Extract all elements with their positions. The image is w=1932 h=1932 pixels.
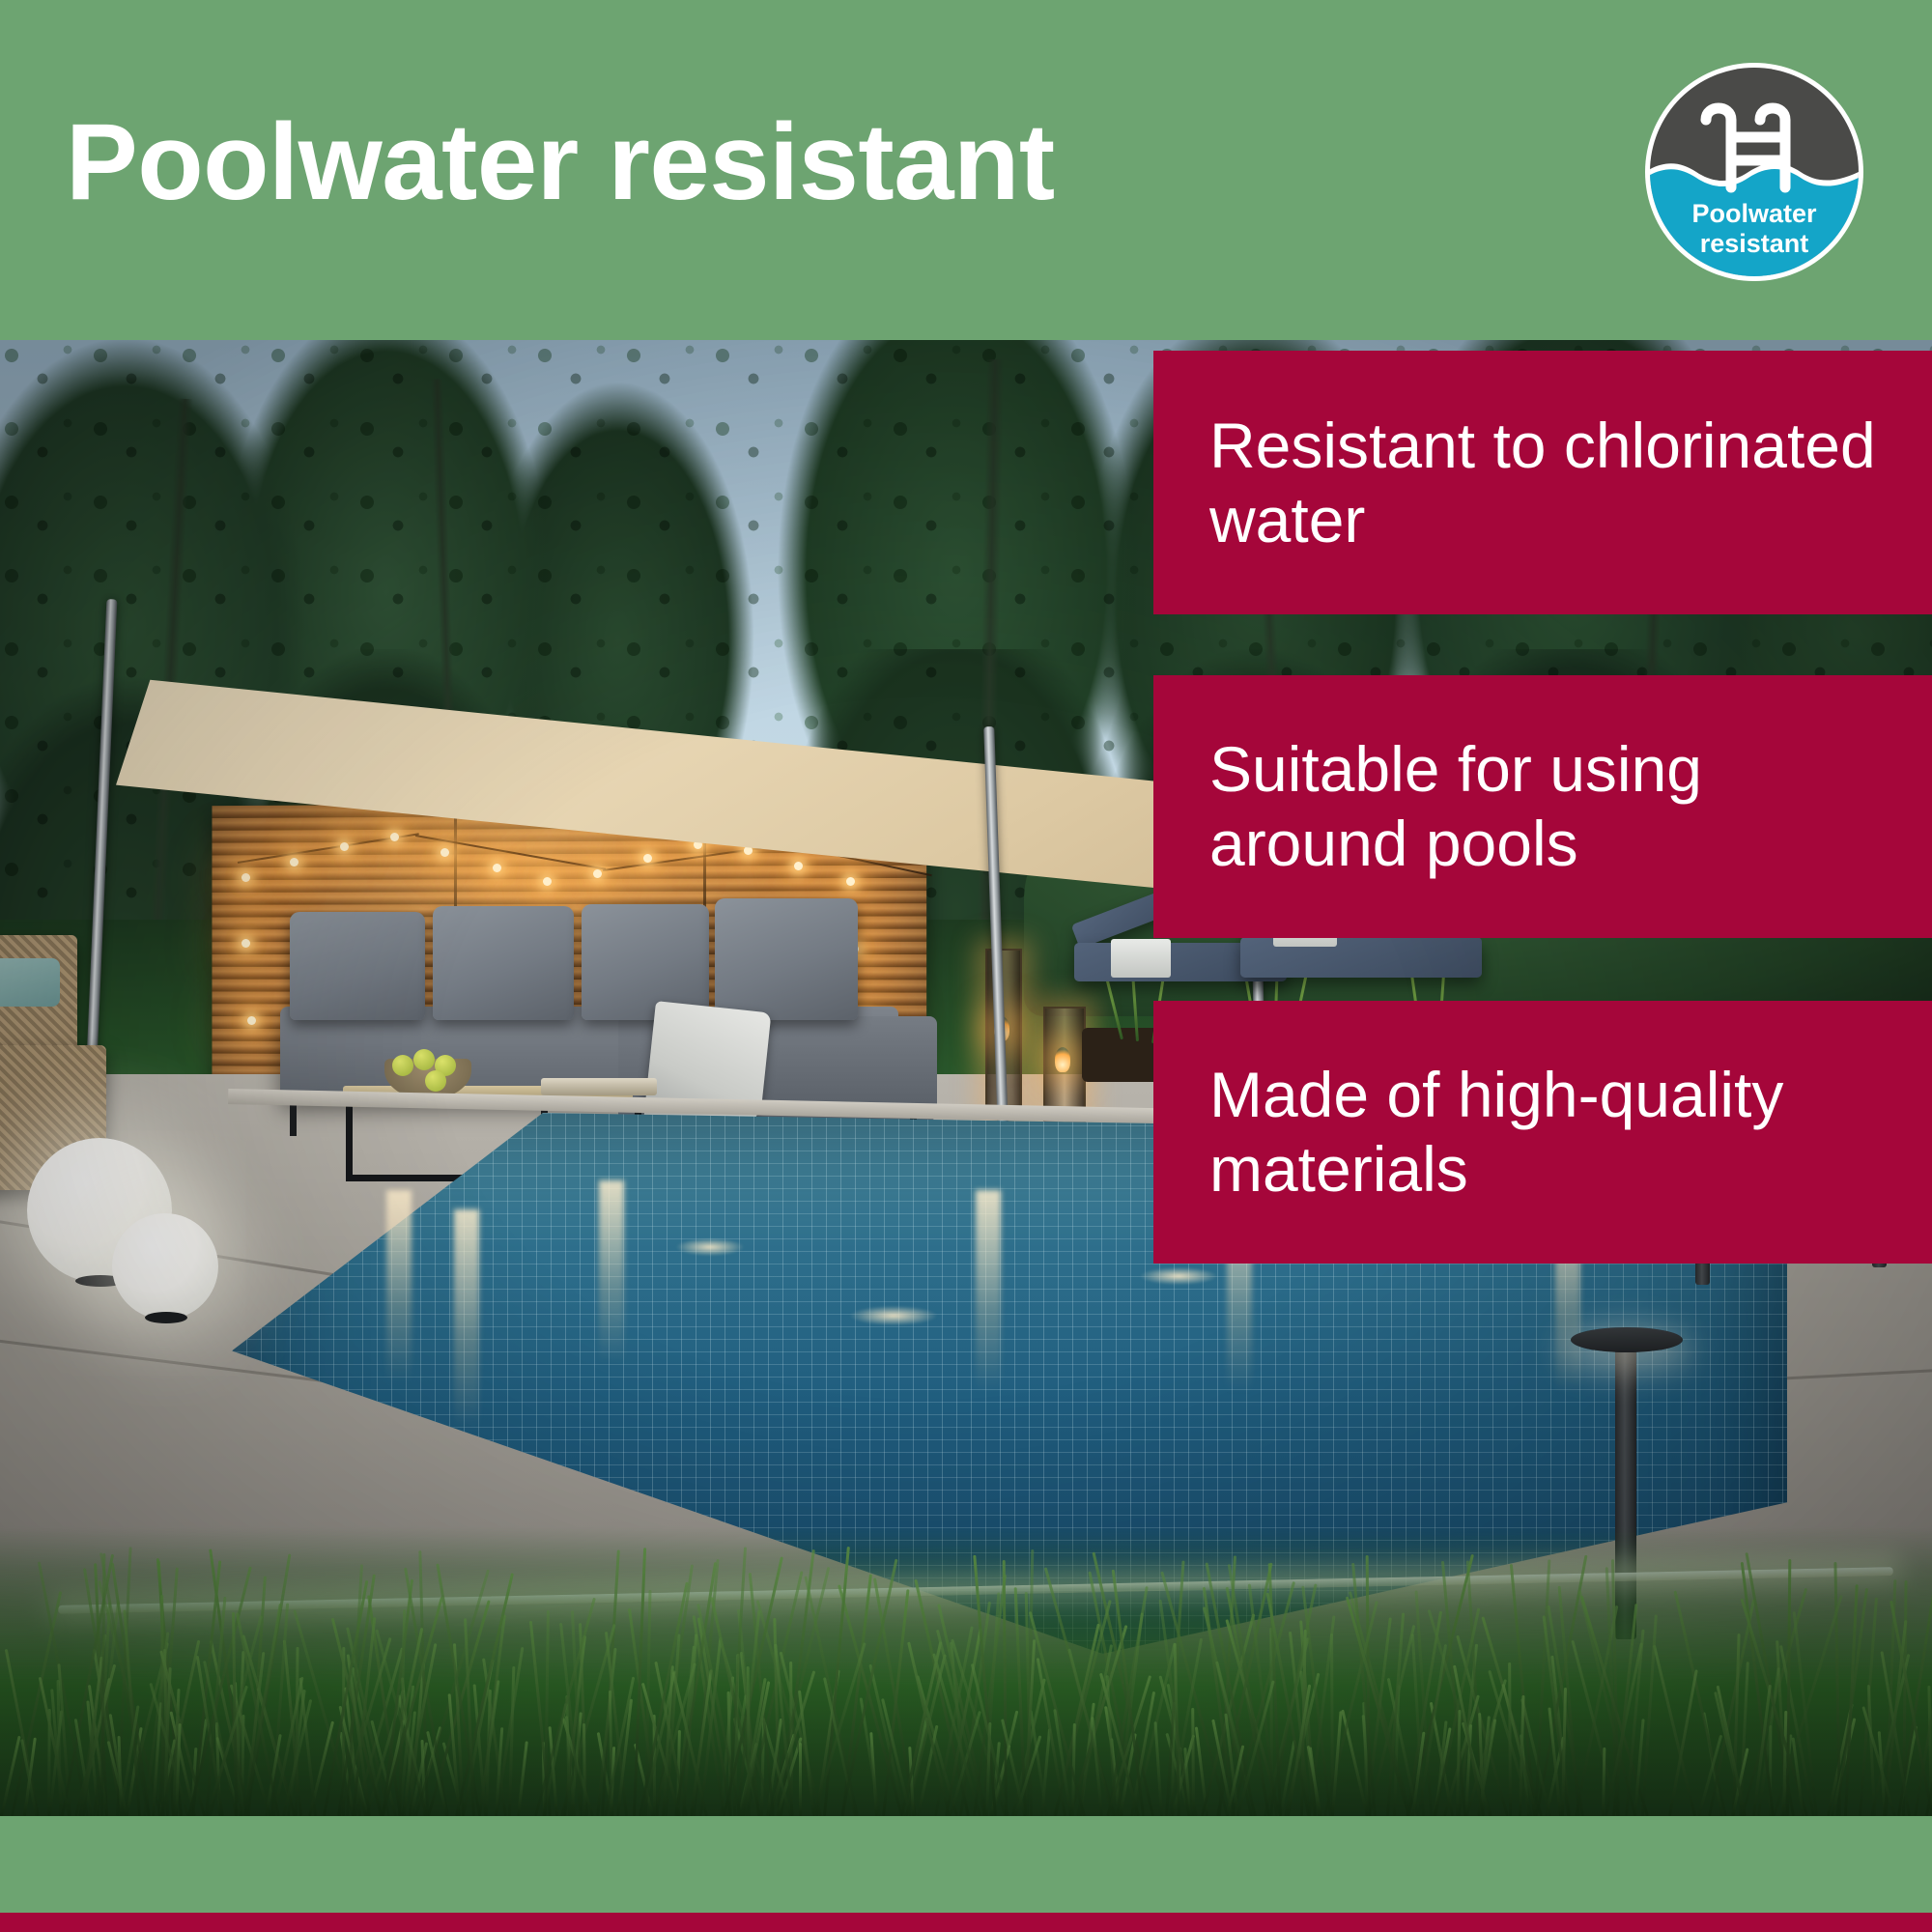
string-light-bulb — [493, 864, 501, 872]
wicker-sofa-cushion — [0, 958, 60, 1007]
feature-callout-text: Made of high-quality materials — [1209, 1058, 1878, 1206]
sphere-lamp-small — [112, 1213, 218, 1320]
feature-callout-text: Suitable for using around pools — [1209, 732, 1878, 880]
fruit-pear — [425, 1070, 446, 1092]
poster-root: Poolwater resistant — [0, 0, 1932, 1932]
sofa-back-cushion — [290, 912, 425, 1020]
string-light-bulb — [241, 939, 250, 948]
string-light-bulb — [390, 833, 399, 841]
feature-callout-list: Resistant to chlorinated water Suitable … — [1153, 340, 1932, 1264]
string-light-bulb — [846, 877, 855, 886]
water-shimmer — [676, 1238, 744, 1256]
poolwater-resistant-badge: Poolwater resistant — [1642, 60, 1866, 284]
water-shimmer — [1140, 1267, 1217, 1285]
side-table — [541, 1078, 657, 1095]
string-light-bulb — [340, 842, 349, 851]
sofa-back-cushion — [582, 904, 709, 1020]
water-shimmer — [850, 1306, 937, 1325]
string-light-bulb — [643, 854, 652, 863]
feature-callout: Suitable for using around pools — [1153, 675, 1932, 938]
grass-blade — [160, 1595, 164, 1816]
bollard-light-head — [1571, 1327, 1683, 1352]
string-light-bulb — [543, 877, 552, 886]
fruit-pear — [413, 1049, 435, 1070]
badge-line-2: resistant — [1700, 229, 1809, 258]
sphere-lamp-base — [145, 1312, 187, 1323]
water-reflection — [599, 1180, 624, 1364]
water-reflection — [454, 1209, 479, 1432]
page-title: Poolwater resistant — [66, 108, 1055, 216]
footer-red-bar — [0, 1913, 1932, 1932]
string-light-bulb — [593, 869, 602, 878]
water-reflection — [976, 1190, 1001, 1393]
grass-blade — [799, 1743, 802, 1816]
string-light-bulb — [794, 862, 803, 870]
sofa-back-cushion — [715, 898, 858, 1020]
string-light-bulb — [241, 873, 250, 882]
fruit-pear — [392, 1055, 413, 1076]
lantern-flame — [1055, 1047, 1070, 1072]
string-light-bulb — [440, 848, 449, 857]
feature-callout: Resistant to chlorinated water — [1153, 351, 1932, 614]
badge-line-1: Poolwater — [1691, 199, 1817, 228]
grass-blade — [1191, 1708, 1195, 1816]
footer-green-bar — [0, 1816, 1932, 1913]
header-bar: Poolwater resistant — [0, 0, 1932, 340]
feature-callout: Made of high-quality materials — [1153, 1001, 1932, 1264]
string-light-bulb — [290, 858, 298, 867]
feature-callout-text: Resistant to chlorinated water — [1209, 409, 1878, 556]
water-reflection — [386, 1190, 412, 1383]
sofa-back-cushion — [433, 906, 574, 1020]
string-light-bulb — [247, 1016, 256, 1025]
